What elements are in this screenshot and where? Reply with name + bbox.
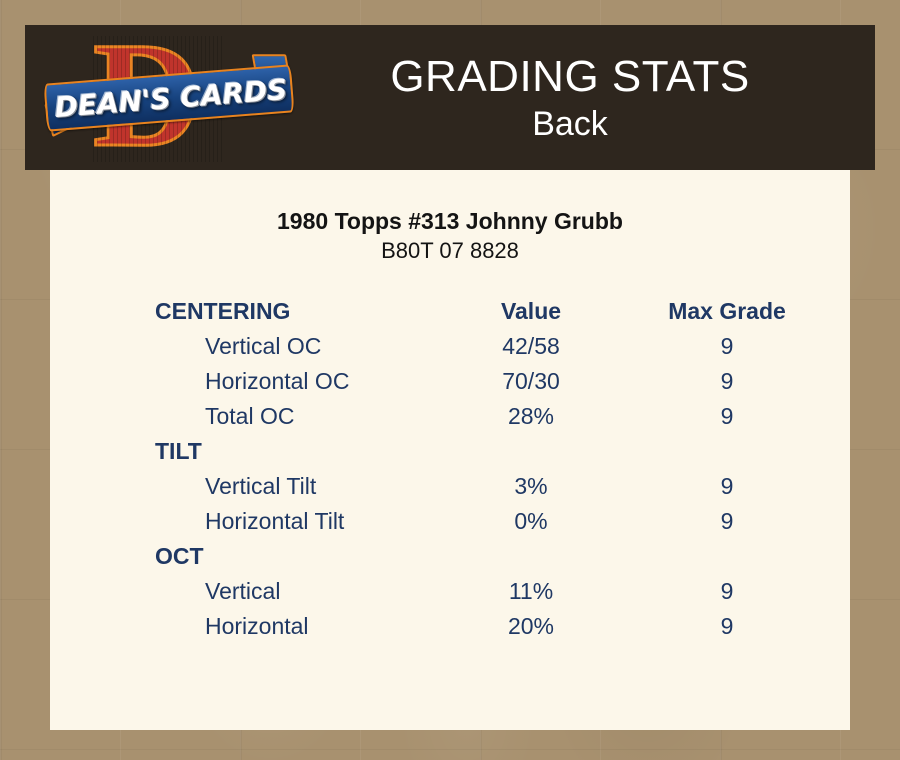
deans-cards-logo: D DEAN'S CARDS	[45, 28, 295, 168]
column-header-section: CENTERING	[50, 294, 420, 329]
stat-label: Horizontal Tilt	[50, 504, 420, 539]
stat-label: Total OC	[50, 399, 420, 434]
section-label: OCT	[50, 539, 420, 574]
card-title: 1980 Topps #313 Johnny Grubb	[50, 206, 850, 236]
column-header-value: Value	[420, 294, 620, 329]
logo-banner-text: DEAN'S CARDS	[52, 68, 291, 128]
stat-label: Horizontal OC	[50, 364, 420, 399]
table-row: Horizontal20%9	[50, 609, 850, 644]
stat-max-grade: 9	[620, 574, 850, 609]
table-section-row: TILT	[50, 434, 850, 469]
stat-max-grade: 9	[620, 609, 850, 644]
page-header: D DEAN'S CARDS GRADING STATS Back	[25, 25, 875, 170]
table-header: CENTERING Value Max Grade	[50, 294, 850, 329]
stat-value: 0%	[420, 504, 620, 539]
table-header-row: CENTERING Value Max Grade	[50, 294, 850, 329]
section-value-spacer	[420, 539, 620, 574]
stat-max-grade: 9	[620, 469, 850, 504]
stat-label: Vertical OC	[50, 329, 420, 364]
table-row: Vertical Tilt3%9	[50, 469, 850, 504]
content-panel: 1980 Topps #313 Johnny Grubb B80T 07 882…	[50, 170, 850, 730]
table-row: Horizontal OC70/309	[50, 364, 850, 399]
stat-label: Horizontal	[50, 609, 420, 644]
table-section-row: OCT	[50, 539, 850, 574]
stat-value: 3%	[420, 469, 620, 504]
stat-label: Vertical	[50, 574, 420, 609]
column-header-grade: Max Grade	[620, 294, 850, 329]
section-grade-spacer	[620, 539, 850, 574]
table-row: Horizontal Tilt0%9	[50, 504, 850, 539]
header-title-group: GRADING STATS Back	[295, 51, 875, 145]
stat-value: 20%	[420, 609, 620, 644]
table-row: Vertical OC42/589	[50, 329, 850, 364]
section-grade-spacer	[620, 434, 850, 469]
section-label: TILT	[50, 434, 420, 469]
stat-value: 70/30	[420, 364, 620, 399]
table-row: Vertical11%9	[50, 574, 850, 609]
stat-max-grade: 9	[620, 329, 850, 364]
stat-max-grade: 9	[620, 504, 850, 539]
stat-value: 28%	[420, 399, 620, 434]
stat-max-grade: 9	[620, 364, 850, 399]
page-subtitle: Back	[295, 103, 845, 145]
card-serial-number: B80T 07 8828	[50, 236, 850, 266]
table-row: Total OC28%9	[50, 399, 850, 434]
stat-value: 42/58	[420, 329, 620, 364]
table-body: Vertical OC42/589Horizontal OC70/309Tota…	[50, 329, 850, 644]
stat-label: Vertical Tilt	[50, 469, 420, 504]
stat-value: 11%	[420, 574, 620, 609]
stat-max-grade: 9	[620, 399, 850, 434]
grading-stats-table: CENTERING Value Max Grade Vertical OC42/…	[50, 294, 850, 644]
page-title: GRADING STATS	[295, 51, 845, 103]
section-value-spacer	[420, 434, 620, 469]
